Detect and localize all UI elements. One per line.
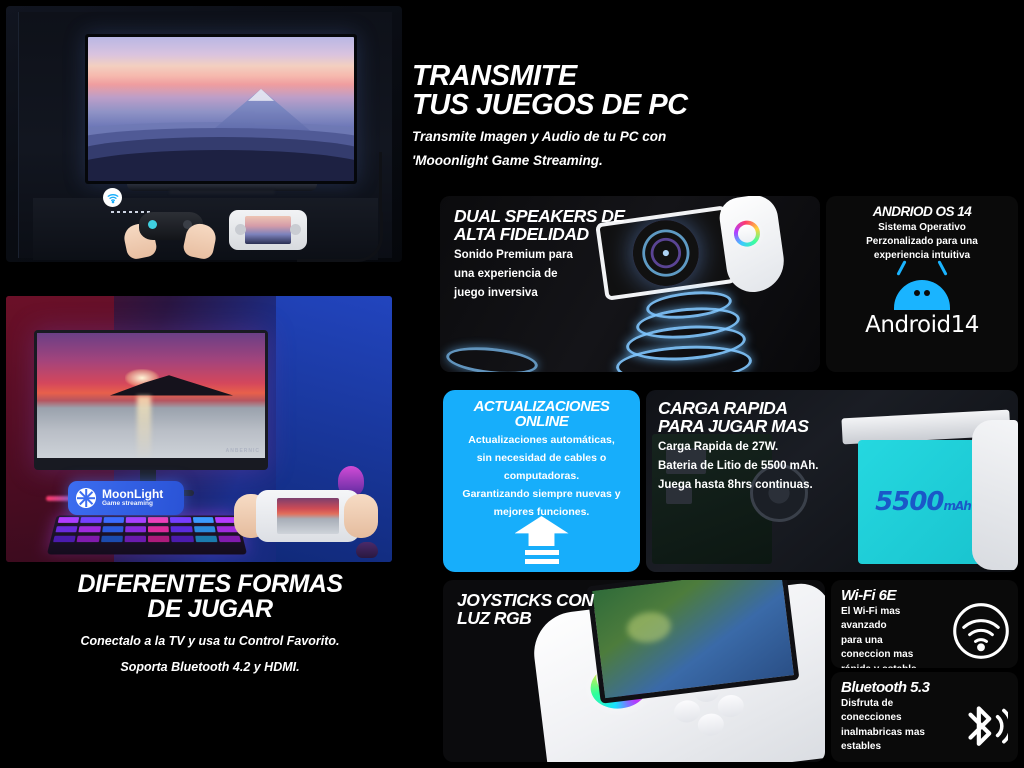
key [148,536,170,542]
updates-body-line3: computadoras. [452,471,631,483]
panel-android-os: ANDRIOD OS 14 Sistema Operativo Perzonal… [826,196,1018,372]
android-body-line3: experiencia intuitiva [868,250,976,261]
moonlight-title: MoonLight [102,488,163,500]
wifi-body-line2: avanzado [841,620,945,631]
moonlight-badge: MoonLight Game streaming [68,481,184,515]
rgb-keyboard [47,516,247,555]
bluetooth-icon [958,698,1008,752]
monitor-screen-wallpaper [37,333,265,458]
android-robot-icon [886,270,958,310]
keyboard-row [49,534,244,544]
battery-unit: mAh [944,499,971,513]
keyboard-row [52,525,242,534]
updates-body-line2: sin necesidad de cables o [452,453,631,465]
charging-text-block: CARGA RAPIDA PARA JUGAR MAS Carga Rapida… [658,400,893,492]
caption-title-line1: DIFERENTES FORMAS [10,572,410,597]
updates-title-line1: ACTUALIZACIONES [452,399,631,414]
panel-fast-charging: 5500mAh CARGA RAPIDA PARA JUGAR MAS Carg… [646,390,1018,572]
caption-title-line2: DE JUGAR [10,597,410,622]
mountain-ridge [88,150,354,181]
bluetooth-body-line3: inalmabricas mas [841,727,945,738]
key [55,526,77,532]
charging-body-line1: Carga Rapida de 27W. [658,441,893,454]
updates-body-line4: Garantizando siempre nuevas y [452,489,631,501]
key [103,517,124,523]
charging-body-line3: Juega hasta 8hrs continuas. [658,479,893,492]
charging-body-line2: Bateria de Litio de 5500 mAh. [658,460,893,473]
handheld-screen [277,498,339,534]
key [102,526,124,532]
hero-subtitle-line2: 'Mooonlight Game Streaming. [412,153,812,168]
rgb-joystick-icon [732,219,761,248]
caption-sub-line1: Conectalo a la TV y usa tu Control Favor… [10,634,410,648]
charging-title-line2: PARA JUGAR MAS [658,418,893,436]
android-wordmark: Android14 [865,312,979,338]
sun-reflection [137,396,151,459]
speakers-body-line1: Sonido Premium para [454,249,654,262]
android-antenna-right [937,260,947,276]
panel-wifi: Wi-Fi 6E El Wi-Fi mas avanzado para una … [831,580,1018,668]
hand-right [344,494,378,538]
key [171,536,193,542]
wifi-body-line3: para una [841,635,945,646]
hero-title-line2: TUS JUEGOS DE PC [412,91,812,120]
android-body-line2: Perzonalizado para una [860,236,984,247]
key [124,536,146,542]
upload-arrow-bar [525,550,559,555]
key [125,526,146,532]
key [148,526,169,532]
key [79,526,101,532]
hero-title-line1: TRANSMITE [412,62,812,91]
android-eye-right [924,290,930,296]
tv-screen-wallpaper [88,37,354,181]
monitor-brand-label: ANBERNIC [226,448,260,454]
speakers-title-line1: DUAL SPEAKERS DE [454,208,654,226]
upload-arrow-icon [515,516,569,564]
wifi-body-line5: rápida y estable [841,664,945,668]
bluetooth-body-line2: conecciones [841,712,945,723]
upload-arrow-head [515,516,569,546]
joysticks-text-block: JOYSTICKS CON LUZ RGB [457,592,667,627]
key [194,526,216,532]
android-eye-left [914,290,920,296]
android-robot-head [894,280,950,310]
caption-sub-line2: Soporta Bluetooth 4.2 y HDMI. [10,660,410,674]
wifi-signal-icon [952,602,1010,660]
tv-display [85,34,357,184]
button-x [673,699,701,724]
desk-gaming-photo: ANBERNIC [6,296,392,562]
caption-different-ways-to-play: DIFERENTES FORMAS DE JUGAR Conectalo a l… [10,572,410,674]
button-a [697,712,725,737]
panel-rgb-joysticks: JOYSTICKS CON LUZ RGB [443,580,825,762]
gaming-mouse [356,542,378,558]
desktop-monitor: ANBERNIC [34,330,268,470]
tv-streaming-photo [6,6,402,262]
hero-subtitle-line1: Transmite Imagen y Audio de tu PC con [412,129,812,144]
speakers-body-line3: juego inversiva [454,287,654,300]
key [148,517,169,523]
dpad-icon [235,224,246,235]
android-body-line1: Sistema Operativo [872,222,972,233]
android-title: ANDRIOD OS 14 [873,205,972,219]
key [170,517,191,523]
panel-bluetooth: Bluetooth 5.3 Disfruta de conecciones in… [831,672,1018,762]
speakers-title-line2: ALTA FIDELIDAD [454,226,654,244]
key [77,536,100,542]
moonlight-burst-icon [76,488,96,508]
updates-title-line2: ONLINE [452,414,631,429]
key [53,536,76,542]
tv-foot [169,190,275,194]
moonlight-subtitle: Game streaming [102,500,163,508]
android-antenna-left [896,260,906,276]
panel-dual-speakers: DUAL SPEAKERS DE ALTA FIDELIDAD Sonido P… [440,196,820,372]
key [101,536,123,542]
charging-title-line1: CARGA RAPIDA [658,400,893,418]
hdmi-cable-vertical [379,152,382,214]
key [80,517,101,523]
keyboard-row [54,516,239,525]
upload-arrow-bar [525,559,559,564]
handheld-screen [245,216,291,244]
key [171,526,193,532]
updates-body-line1: Actualizaciones automáticas, [452,435,631,447]
panel-online-updates: ACTUALIZACIONES ONLINE Actualizaciones a… [443,390,640,572]
tv-room-background [18,12,392,258]
key [195,536,218,542]
speakers-body-line2: una experiencia de [454,268,654,281]
key [58,517,80,523]
wifi-icon [103,188,122,207]
bluetooth-body-line1: Disfruta de [841,698,945,709]
hands-holding-gamepad [125,208,221,260]
key [192,517,213,523]
wifi-body-line4: coneccion mas [841,649,945,660]
joysticks-title-line1: JOYSTICKS CON [457,592,667,610]
bluetooth-body-line4: estables [841,741,945,752]
wifi-body-line1: El Wi-Fi mas [841,606,945,617]
hdmi-cable [297,212,383,262]
bluetooth-title: Bluetooth 5.3 [841,680,1008,695]
key [125,517,146,523]
hands-holding-handheld [234,484,378,554]
wifi-title: Wi-Fi 6E [841,588,1008,603]
joysticks-title-line2: LUZ RGB [457,610,667,628]
hero-headline: TRANSMITE TUS JUEGOS DE PC Transmite Ima… [412,62,812,168]
handheld-console [229,210,307,250]
console-shell-edge [972,420,1018,570]
button-b [717,694,745,719]
moonlight-badge-text: MoonLight Game streaming [102,488,163,508]
speakers-text-block: DUAL SPEAKERS DE ALTA FIDELIDAD Sonido P… [454,208,654,300]
